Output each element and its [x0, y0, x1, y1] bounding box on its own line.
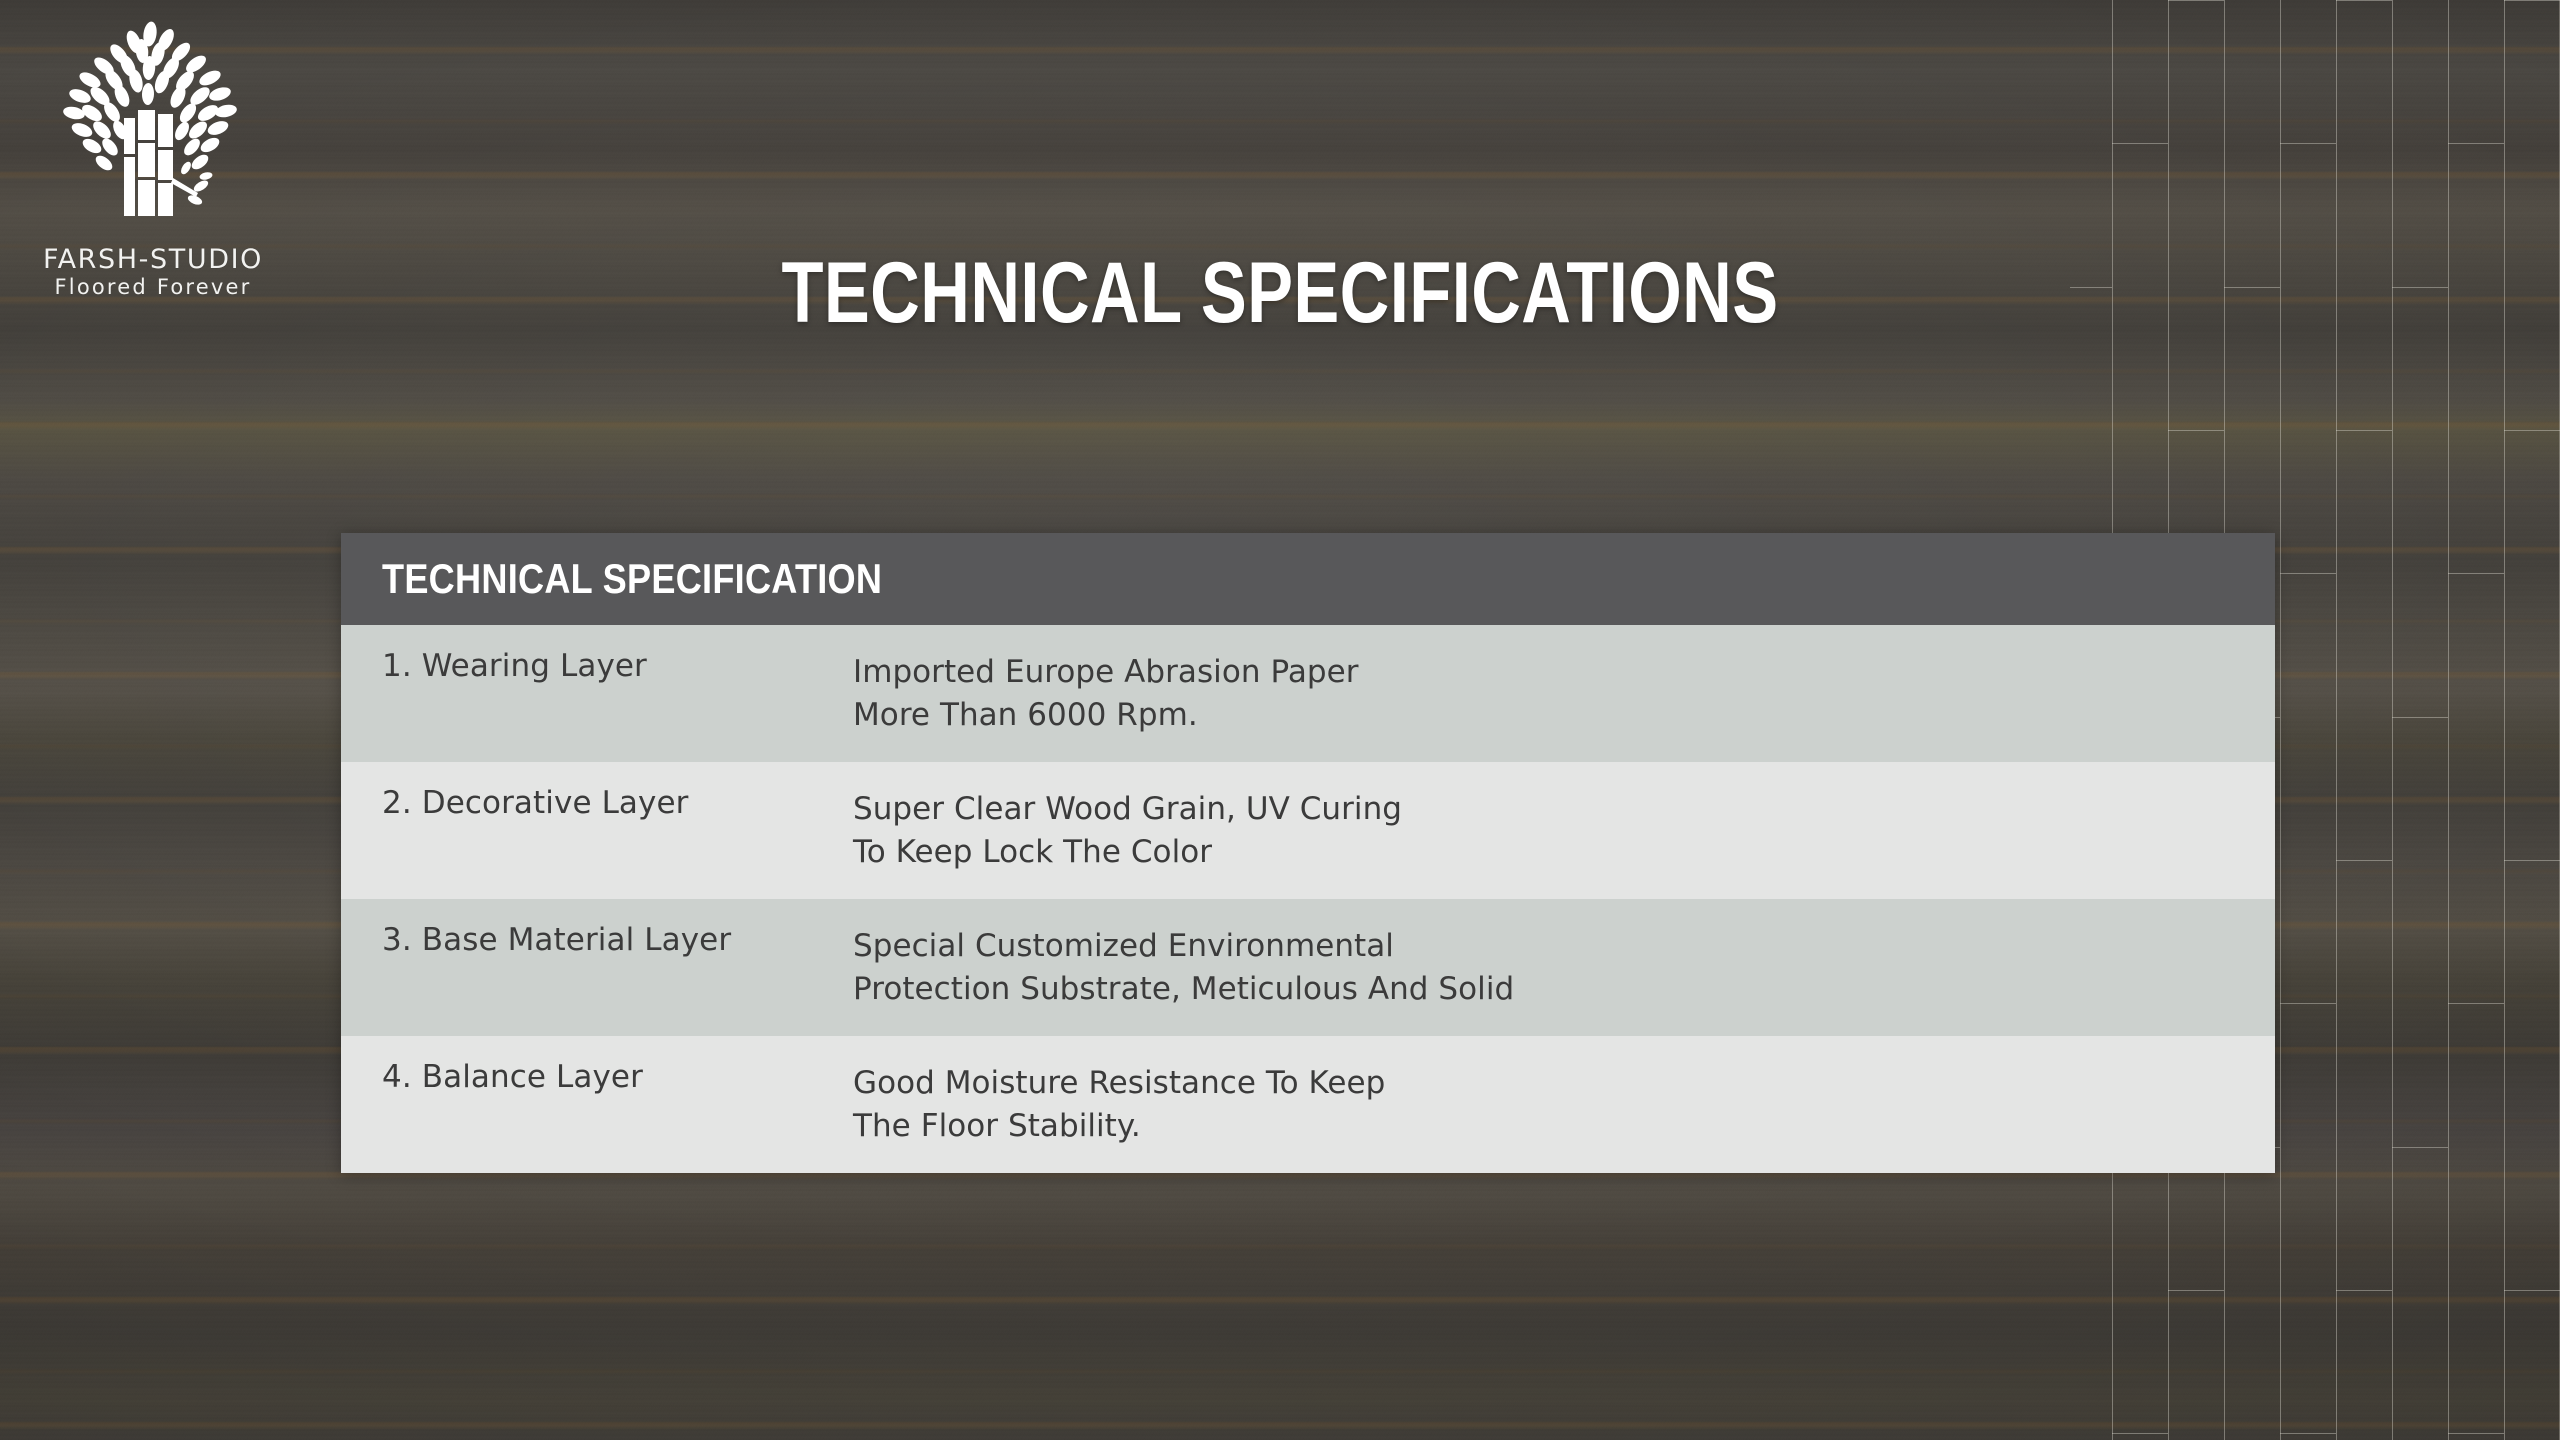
brand-name: FARSH-STUDIO: [38, 246, 268, 273]
plank-seam: [2280, 1433, 2336, 1434]
plank-seam: [2448, 573, 2504, 574]
plank-seam: [2112, 1433, 2168, 1434]
plank-seam: [2504, 0, 2560, 1]
plank-seam: [2448, 1003, 2504, 1004]
plank-seam: [2168, 1290, 2224, 1291]
plank-seam: [2336, 1290, 2392, 1291]
row-value-line: Good Moisture Resistance To Keep: [853, 1062, 2275, 1105]
table-body: 1. Wearing LayerImported Europe Abrasion…: [341, 625, 2275, 1173]
plank-seam: [2280, 143, 2336, 144]
row-value: Imported Europe Abrasion PaperMore Than …: [853, 651, 2275, 737]
plank-seam: [2504, 860, 2560, 861]
plank-seam: [2392, 1147, 2448, 1148]
row-value-line: More Than 6000 Rpm.: [853, 694, 2275, 737]
plank-seam: [2112, 143, 2168, 144]
table-row: 2. Decorative LayerSuper Clear Wood Grai…: [341, 762, 2275, 899]
plank-seam: [2392, 717, 2448, 718]
plank-seam: [2280, 573, 2336, 574]
row-value-line: Imported Europe Abrasion Paper: [853, 651, 2275, 694]
row-value-line: Protection Substrate, Meticulous And Sol…: [853, 968, 2275, 1011]
row-label: 2. Decorative Layer: [382, 788, 853, 819]
plank-column: [2392, 0, 2449, 1440]
plank-column: [2336, 0, 2393, 1440]
plank-seam: [2280, 1003, 2336, 1004]
row-value: Good Moisture Resistance To KeepThe Floo…: [853, 1062, 2275, 1148]
row-value-line: Super Clear Wood Grain, UV Curing: [853, 788, 2275, 831]
plank-seam: [2336, 0, 2392, 1]
plank-column: [2504, 0, 2560, 1440]
row-label: 1. Wearing Layer: [382, 651, 853, 682]
plank-column: [2280, 0, 2337, 1440]
row-label: 4. Balance Layer: [382, 1062, 853, 1093]
plank-seam: [2336, 860, 2392, 861]
plank-seam: [2168, 0, 2224, 1]
plank-seam: [2336, 430, 2392, 431]
bamboo-tree-icon: [38, 18, 268, 218]
row-value-line: Special Customized Environmental: [853, 925, 2275, 968]
table-header: TECHNICAL SPECIFICATION: [341, 533, 2275, 625]
brand-logo: FARSH-STUDIO Floored Forever: [38, 18, 268, 288]
table-header-label: TECHNICAL SPECIFICATION: [382, 555, 882, 603]
page-title: TECHNICAL SPECIFICATIONS: [256, 250, 2304, 336]
plank-seam: [2504, 1290, 2560, 1291]
row-value: Super Clear Wood Grain, UV CuringTo Keep…: [853, 788, 2275, 874]
table-row: 1. Wearing LayerImported Europe Abrasion…: [341, 625, 2275, 762]
plank-column: [2448, 0, 2505, 1440]
technical-specification-table: TECHNICAL SPECIFICATION 1. Wearing Layer…: [341, 533, 2275, 1173]
row-value: Special Customized EnvironmentalProtecti…: [853, 925, 2275, 1011]
plank-seam: [2392, 287, 2448, 288]
plank-seam: [2448, 143, 2504, 144]
plank-seam: [2504, 430, 2560, 431]
table-row: 3. Base Material LayerSpecial Customized…: [341, 899, 2275, 1036]
plank-seam: [2168, 430, 2224, 431]
logo-wordmark: FARSH-STUDIO Floored Forever: [38, 246, 268, 301]
table-row: 4. Balance LayerGood Moisture Resistance…: [341, 1036, 2275, 1173]
slide-canvas: FARSH-STUDIO Floored Forever TECHNICAL S…: [0, 0, 2560, 1440]
row-value-line: To Keep Lock The Color: [853, 831, 2275, 874]
row-label: 3. Base Material Layer: [382, 925, 853, 956]
plank-seam: [2448, 1433, 2504, 1434]
brand-tagline: Floored Forever: [38, 273, 268, 301]
row-value-line: The Floor Stability.: [853, 1105, 2275, 1148]
